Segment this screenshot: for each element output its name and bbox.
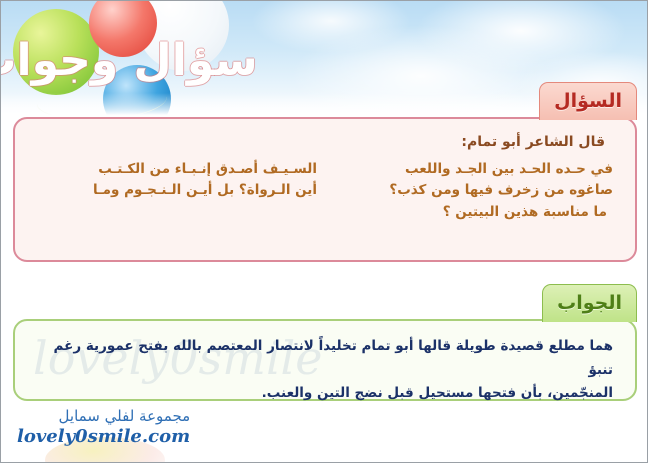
question-panel: قال الشاعر أبو تمام: في حـده الحـد بين ا…: [13, 117, 637, 262]
verse-hemistich-a: السـيـف أصـدق إنـبـاء من الكـتـب: [53, 159, 323, 180]
verse-line: صاغوه من زخرف فيها ومن كذب؟ أين الـرواة؟…: [37, 180, 613, 201]
logo-wordmark: سؤال وجواب: [15, 11, 215, 111]
footer: مجموعة لفلي سمايل lovely0smile.com: [17, 407, 190, 448]
answer-panel: lovely0smile هما مطلع قصيدة طويلة قالها …: [13, 319, 637, 401]
question-intro: قال الشاعر أبو تمام:: [37, 133, 605, 153]
verse-hemistich-a: أين الـرواة؟ بل أيـن الـنـجـوم ومـا: [53, 180, 323, 201]
verse-hemistich-b: في حـده الحـد بين الجـد واللعب: [323, 159, 613, 180]
logo-wordmark-text: سؤال وجواب: [1, 39, 258, 83]
verse-hemistich-b: صاغوه من زخرف فيها ومن كذب؟: [323, 180, 613, 201]
tab-answer-label: الجواب: [557, 294, 622, 313]
qa-card-page: سؤال وجواب السؤال قال الشاعر أبو تمام: ف…: [0, 0, 648, 463]
answer-line: المنجّمين، بأن فتحها مستحيل قبل نضج التي…: [37, 382, 613, 406]
tab-question[interactable]: السؤال: [539, 82, 637, 120]
footer-brand-arabic: مجموعة لفلي سمايل: [17, 407, 190, 426]
site-logo[interactable]: سؤال وجواب: [7, 3, 217, 119]
tab-answer[interactable]: الجواب: [542, 284, 637, 322]
verse-line: في حـده الحـد بين الجـد واللعب السـيـف أ…: [37, 159, 613, 180]
footer-site-url[interactable]: lovely0smile.com: [17, 426, 190, 449]
answer-line: هما مطلع قصيدة طويلة قالها أبو تمام تخلي…: [37, 335, 613, 382]
tab-question-label: السؤال: [554, 92, 622, 111]
question-prompt: ما مناسبة هذين البيتين ؟: [37, 202, 613, 223]
